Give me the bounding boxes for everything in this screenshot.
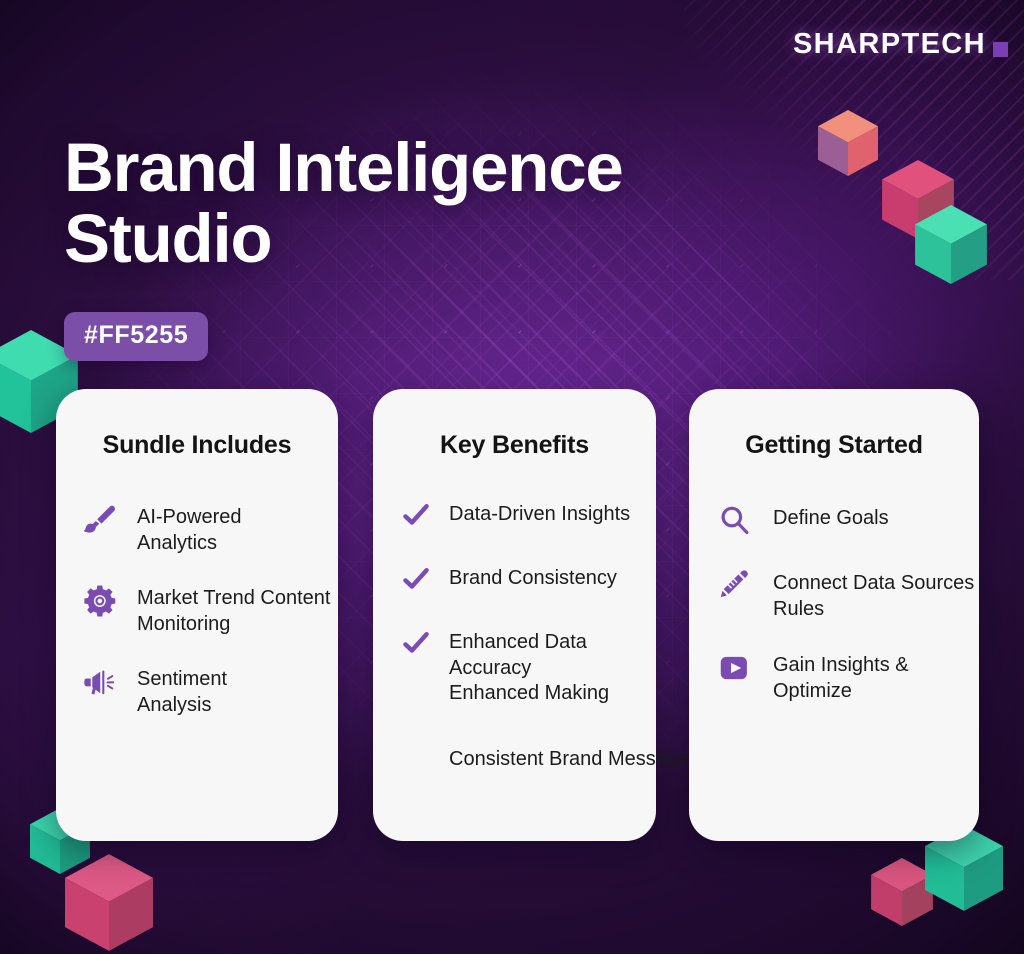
card-item-list: AI-Powered Analytics Market Trend Conten…	[56, 505, 338, 719]
magnifier-icon	[716, 502, 754, 540]
card-title: Getting Started	[689, 431, 979, 460]
list-item-label: Connect Data Sources Rules	[773, 571, 974, 622]
list-item-label: Define Goals	[773, 506, 889, 532]
list-item[interactable]: Enhanced Data Accuracy Enhanced Making	[373, 630, 656, 707]
card-bundle-includes: Sundle Includes AI-Powered Analytics Mar…	[56, 389, 338, 841]
list-item-label: Sentiment Analysis	[137, 667, 227, 718]
card-getting-started: Getting Started Define Goals Connect Dat…	[689, 389, 979, 841]
play-button-icon	[716, 649, 754, 687]
logo-text: SHARPTECH	[793, 30, 986, 59]
logo: SHARPTECH	[793, 30, 1008, 59]
logo-square-mark	[993, 42, 1008, 57]
card-item-list: Data-Driven Insights Brand Consistency E…	[373, 502, 656, 774]
check-icon	[403, 567, 429, 593]
list-item[interactable]: Consistent Brand Message	[373, 747, 656, 774]
list-item[interactable]: Data-Driven Insights	[373, 502, 656, 529]
list-item[interactable]: Gain Insights & Optimize	[689, 653, 979, 704]
list-item-label: Data-Driven Insights	[449, 502, 630, 528]
list-item-label: Gain Insights & Optimize	[773, 653, 909, 704]
list-item[interactable]: Brand Consistency	[373, 566, 656, 593]
list-item-label: Enhanced Data Accuracy Enhanced Making	[449, 630, 656, 707]
list-item-label: Market Trend Content Monitoring	[137, 586, 330, 637]
list-item-label: Consistent Brand Message	[449, 747, 689, 773]
megaphone-icon	[82, 663, 120, 701]
list-item[interactable]: Market Trend Content Monitoring	[56, 586, 338, 637]
card-title: Sundle Includes	[56, 431, 338, 460]
paintbrush-icon	[82, 501, 120, 539]
list-item-label: AI-Powered Analytics	[137, 505, 242, 556]
card-item-list: Define Goals Connect Data Sources Rules …	[689, 506, 979, 704]
gear-icon	[82, 582, 120, 620]
pencil-icon	[716, 567, 754, 605]
check-icon	[403, 631, 429, 657]
card-key-benefits: Key Benefits Data-Driven Insights Brand …	[373, 389, 656, 841]
list-item-label: Brand Consistency	[449, 566, 617, 592]
color-code-badge: #FF5255	[64, 312, 208, 361]
list-item[interactable]: AI-Powered Analytics	[56, 505, 338, 556]
list-item[interactable]: Connect Data Sources Rules	[689, 571, 979, 622]
card-title: Key Benefits	[373, 431, 656, 460]
page-title: Brand Inteligence Studio	[64, 132, 764, 274]
list-item[interactable]: Sentiment Analysis	[56, 667, 338, 718]
list-item[interactable]: Define Goals	[689, 506, 979, 540]
check-icon	[403, 503, 429, 529]
